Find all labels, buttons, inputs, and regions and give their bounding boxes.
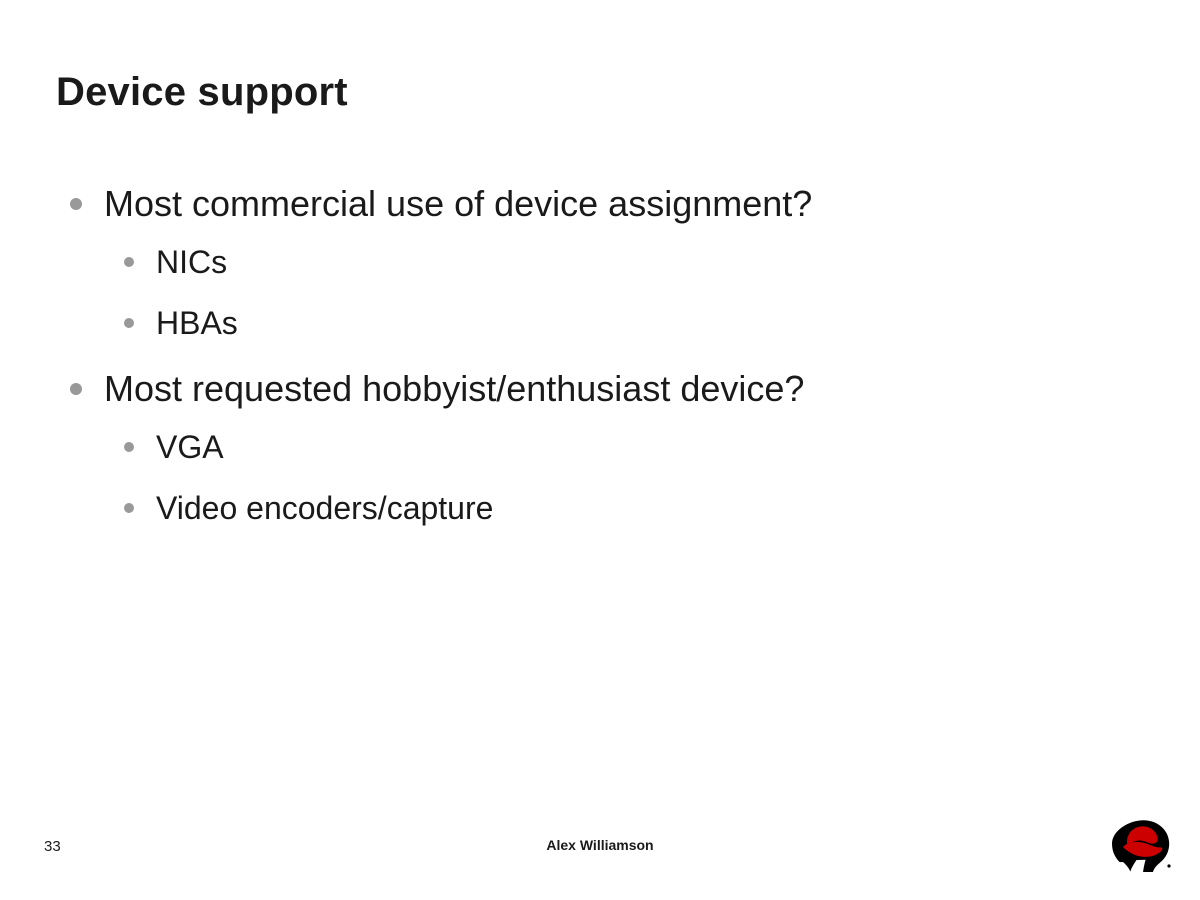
- bullet-marker-icon: [124, 257, 134, 267]
- bullet-marker-icon: [70, 198, 82, 210]
- list-item-label: NICs: [156, 237, 1100, 287]
- list-item: HBAs: [0, 298, 1100, 348]
- list-item: Most requested hobbyist/enthusiast devic…: [0, 361, 1100, 417]
- bullet-list: Most commercial use of device assignment…: [0, 176, 1100, 544]
- list-item-label: Most requested hobbyist/enthusiast devic…: [104, 361, 1100, 417]
- page-title: Device support: [56, 70, 348, 114]
- list-item: NICs: [0, 237, 1100, 287]
- bullet-marker-icon: [70, 383, 82, 395]
- list-item: VGA: [0, 422, 1100, 472]
- list-item: Video encoders/capture: [0, 483, 1100, 533]
- slide: Device support Most commercial use of de…: [0, 0, 1200, 900]
- list-item-label: Video encoders/capture: [156, 483, 1100, 533]
- bullet-marker-icon: [124, 503, 134, 513]
- list-item: Most commercial use of device assignment…: [0, 176, 1100, 232]
- list-item-label: HBAs: [156, 298, 1100, 348]
- list-item-label: Most commercial use of device assignment…: [104, 176, 1100, 232]
- bullet-marker-icon: [124, 318, 134, 328]
- footer-author: Alex Williamson: [0, 837, 1200, 853]
- red-hat-shadowman-logo-icon: [1110, 818, 1178, 878]
- list-item-label: VGA: [156, 422, 1100, 472]
- slide-footer: 33 Alex Williamson: [0, 820, 1200, 900]
- bullet-marker-icon: [124, 442, 134, 452]
